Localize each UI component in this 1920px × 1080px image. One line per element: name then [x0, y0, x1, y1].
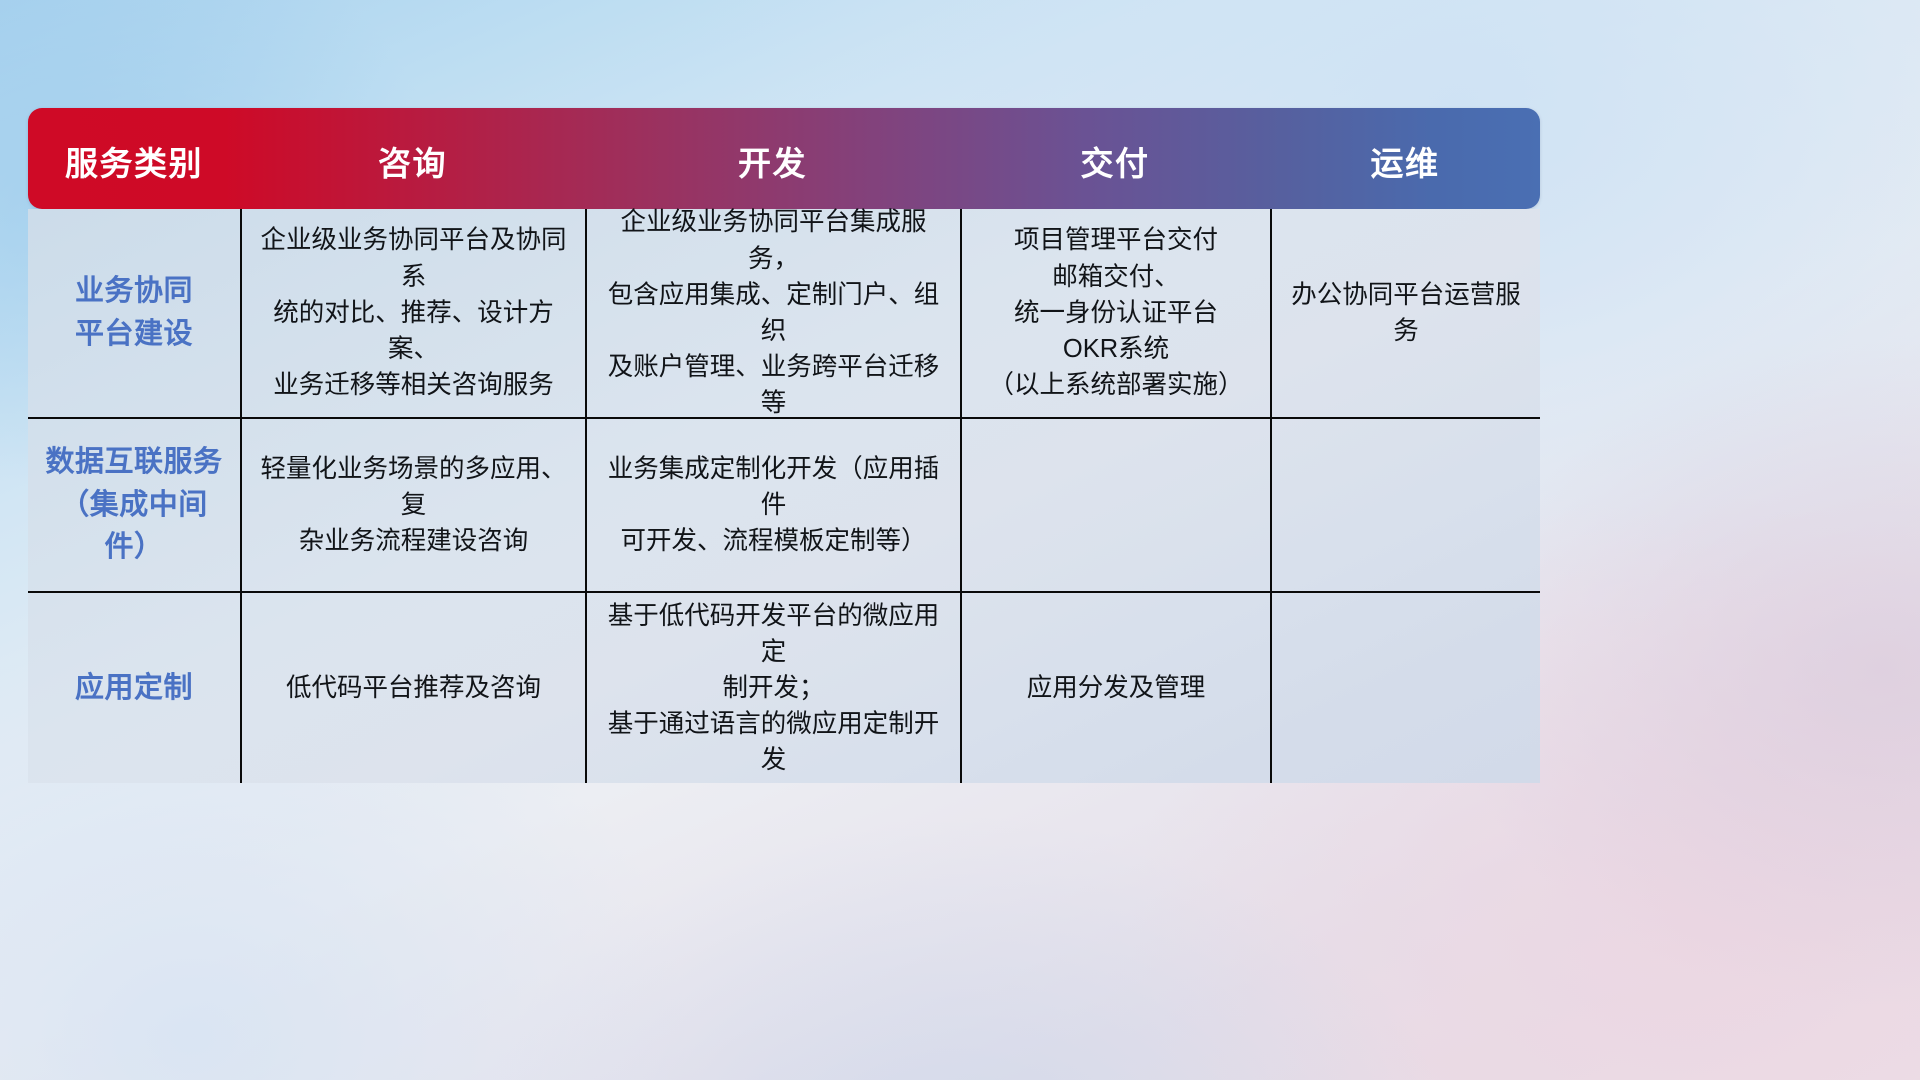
column-header-development: 开发 — [585, 108, 960, 209]
row-label-data-interconnect: 数据互联服务 （集成中间件） — [28, 419, 240, 591]
column-header-delivery: 交付 — [960, 108, 1270, 209]
cell-development-row1: 企业级业务协同平台集成服务， 包含应用集成、定制门户、组织 及账户管理、业务跨平… — [585, 209, 960, 417]
cell-delivery-row1: 项目管理平台交付 邮箱交付、 统一身份认证平台 OKR系统 （以上系统部署实施） — [960, 209, 1270, 417]
cell-consulting-row1: 企业级业务协同平台及协同系 统的对比、推荐、设计方案、 业务迁移等相关咨询服务 — [240, 209, 585, 417]
table-body: 业务协同 平台建设 企业级业务协同平台及协同系 统的对比、推荐、设计方案、 业务… — [28, 209, 1540, 783]
cell-operations-row2 — [1270, 419, 1540, 591]
cell-consulting-row2: 轻量化业务场景的多应用、复 杂业务流程建设咨询 — [240, 419, 585, 591]
column-header-consulting: 咨询 — [240, 108, 585, 209]
cell-operations-row1: 办公协同平台运营服务 — [1270, 209, 1540, 417]
service-matrix-table: 服务类别 咨询 开发 交付 运维 业务协同 平台建设 企业级业务协同平台及协同系… — [28, 108, 1540, 783]
row-label-business-collaboration: 业务协同 平台建设 — [28, 209, 240, 417]
cell-delivery-row3: 应用分发及管理 — [960, 593, 1270, 783]
cell-operations-row3 — [1270, 593, 1540, 783]
table-header-row: 服务类别 咨询 开发 交付 运维 — [28, 108, 1540, 209]
cell-development-row2: 业务集成定制化开发（应用插件 可开发、流程模板定制等） — [585, 419, 960, 591]
cell-consulting-row3: 低代码平台推荐及咨询 — [240, 593, 585, 783]
table-row: 应用定制 低代码平台推荐及咨询 基于低代码开发平台的微应用定 制开发； 基于通过… — [28, 591, 1540, 783]
table-row: 业务协同 平台建设 企业级业务协同平台及协同系 统的对比、推荐、设计方案、 业务… — [28, 209, 1540, 417]
table-row: 数据互联服务 （集成中间件） 轻量化业务场景的多应用、复 杂业务流程建设咨询 业… — [28, 417, 1540, 591]
column-header-operations: 运维 — [1270, 108, 1540, 209]
cell-delivery-row2 — [960, 419, 1270, 591]
row-label-app-customization: 应用定制 — [28, 593, 240, 783]
column-header-category: 服务类别 — [28, 108, 240, 209]
cell-development-row3: 基于低代码开发平台的微应用定 制开发； 基于通过语言的微应用定制开发 — [585, 593, 960, 783]
